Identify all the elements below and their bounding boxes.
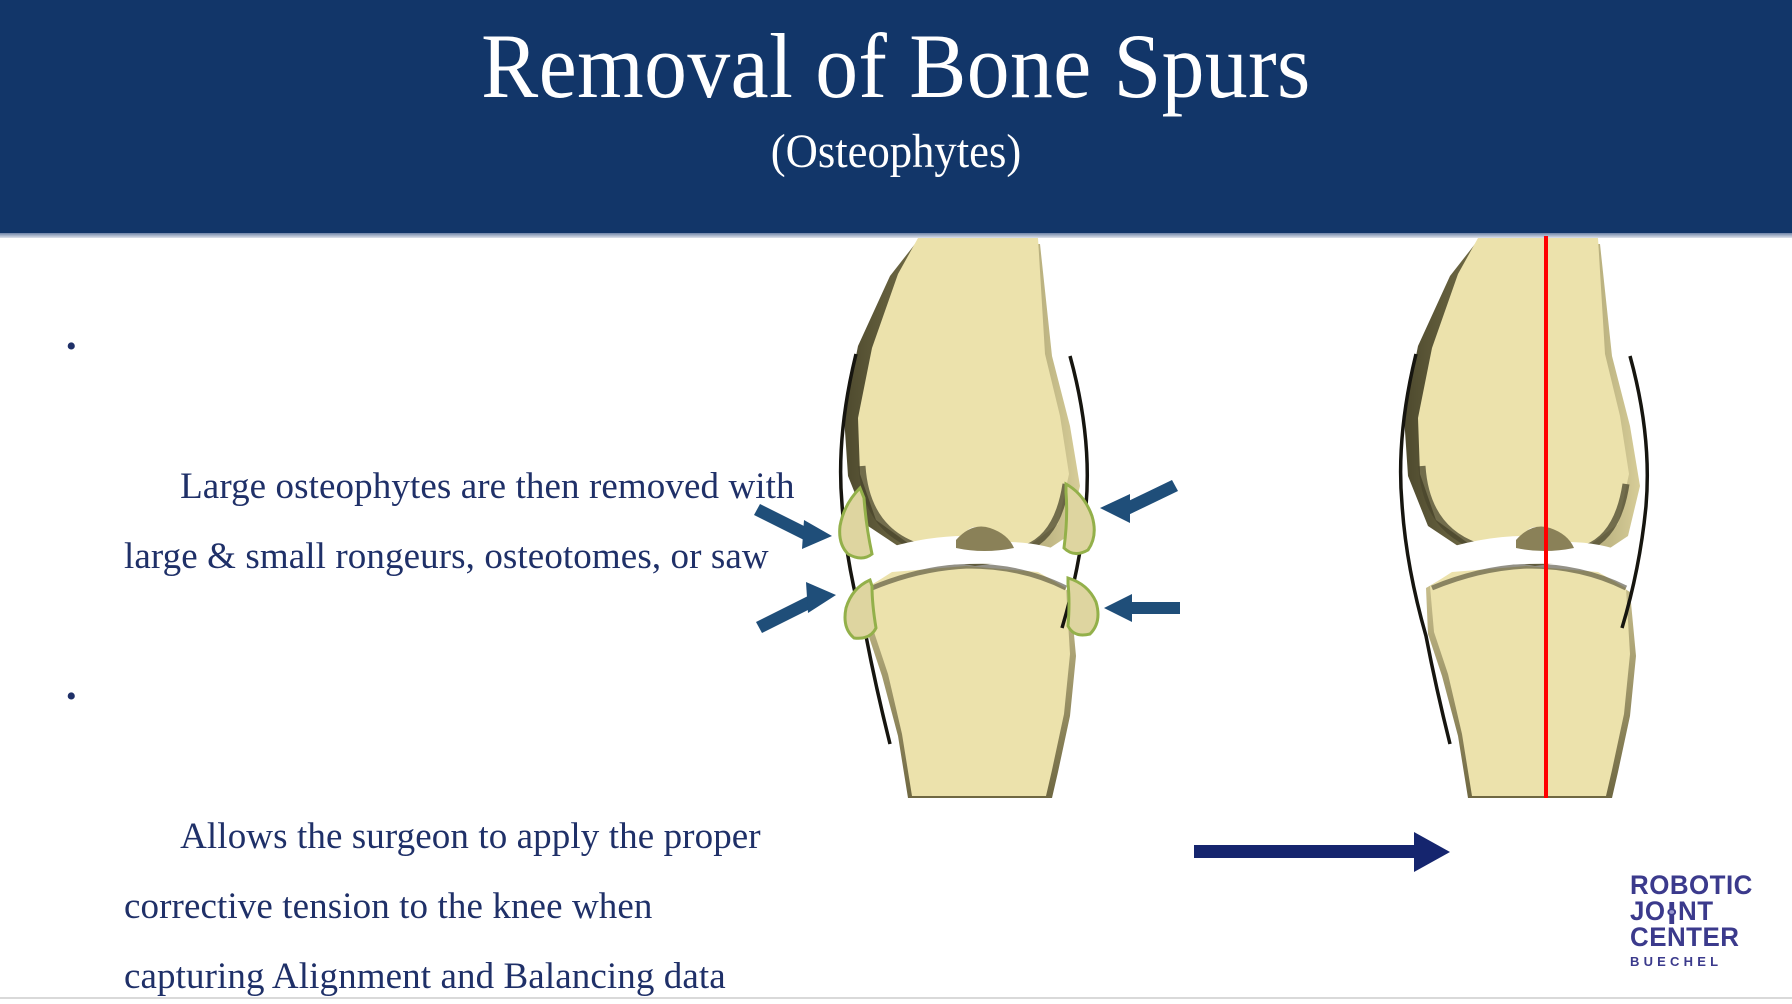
- left-knee-tibia: [866, 566, 1076, 798]
- arrow-lateral-tibial-spur: [756, 582, 836, 633]
- knee-illustration-figure: [740, 236, 1792, 836]
- arrow-lateral-femoral-spur: [754, 504, 832, 549]
- left-knee-group: [754, 238, 1180, 798]
- osteophyte-lateral-tibial: [845, 580, 876, 638]
- right-knee-group: [1401, 238, 1648, 798]
- right-knee-femur: [1404, 238, 1640, 566]
- knee-joint-icon: [1667, 902, 1678, 924]
- transition-arrow-shaft: [1194, 845, 1422, 858]
- bullet-item-2: • Allows the surgeon to apply the proper…: [56, 662, 796, 1004]
- bottom-divider: [0, 997, 1792, 999]
- tibia-body-left: [870, 566, 1070, 796]
- slide-title: Removal of Bone Spurs: [63, 14, 1730, 118]
- knee-diagram-svg: [740, 236, 1792, 836]
- knee-joint-icon-svg: [1667, 902, 1678, 924]
- tibia-body-right: [1430, 566, 1630, 796]
- transition-arrow-head: [1414, 832, 1450, 872]
- logo: ROBOTIC JO NT CENTER BUECHEL: [1630, 872, 1782, 988]
- right-knee-tibia: [1426, 566, 1636, 798]
- bullet-text-1: Large osteophytes are then removed with …: [124, 466, 813, 577]
- slide: Removal of Bone Spurs (Osteophytes) • La…: [0, 0, 1792, 1004]
- logo-line-robotic: ROBOTIC: [1630, 872, 1776, 898]
- slide-subtitle: (Osteophytes): [63, 124, 1730, 180]
- logo-line-center: CENTER: [1630, 924, 1776, 950]
- bullet-list: • Large osteophytes are then removed wit…: [56, 312, 796, 1004]
- osteophyte-medial-tibial: [1068, 578, 1098, 635]
- logo-tagline: BUECHEL: [1630, 955, 1782, 969]
- left-knee-femur: [844, 238, 1080, 566]
- bullet-glyph-1: •: [66, 312, 77, 382]
- arrow-medial-femoral-spur: [1100, 480, 1178, 523]
- bullet-item-1: • Large osteophytes are then removed wit…: [56, 312, 796, 662]
- logo-line-joint: JO NT: [1630, 898, 1776, 924]
- bullet-glyph-2: •: [66, 662, 77, 732]
- arrow-medial-tibial-spur: [1104, 594, 1180, 622]
- osteophyte-medial-femoral: [1064, 484, 1094, 554]
- bullet-text-2: Allows the surgeon to apply the proper c…: [124, 816, 770, 997]
